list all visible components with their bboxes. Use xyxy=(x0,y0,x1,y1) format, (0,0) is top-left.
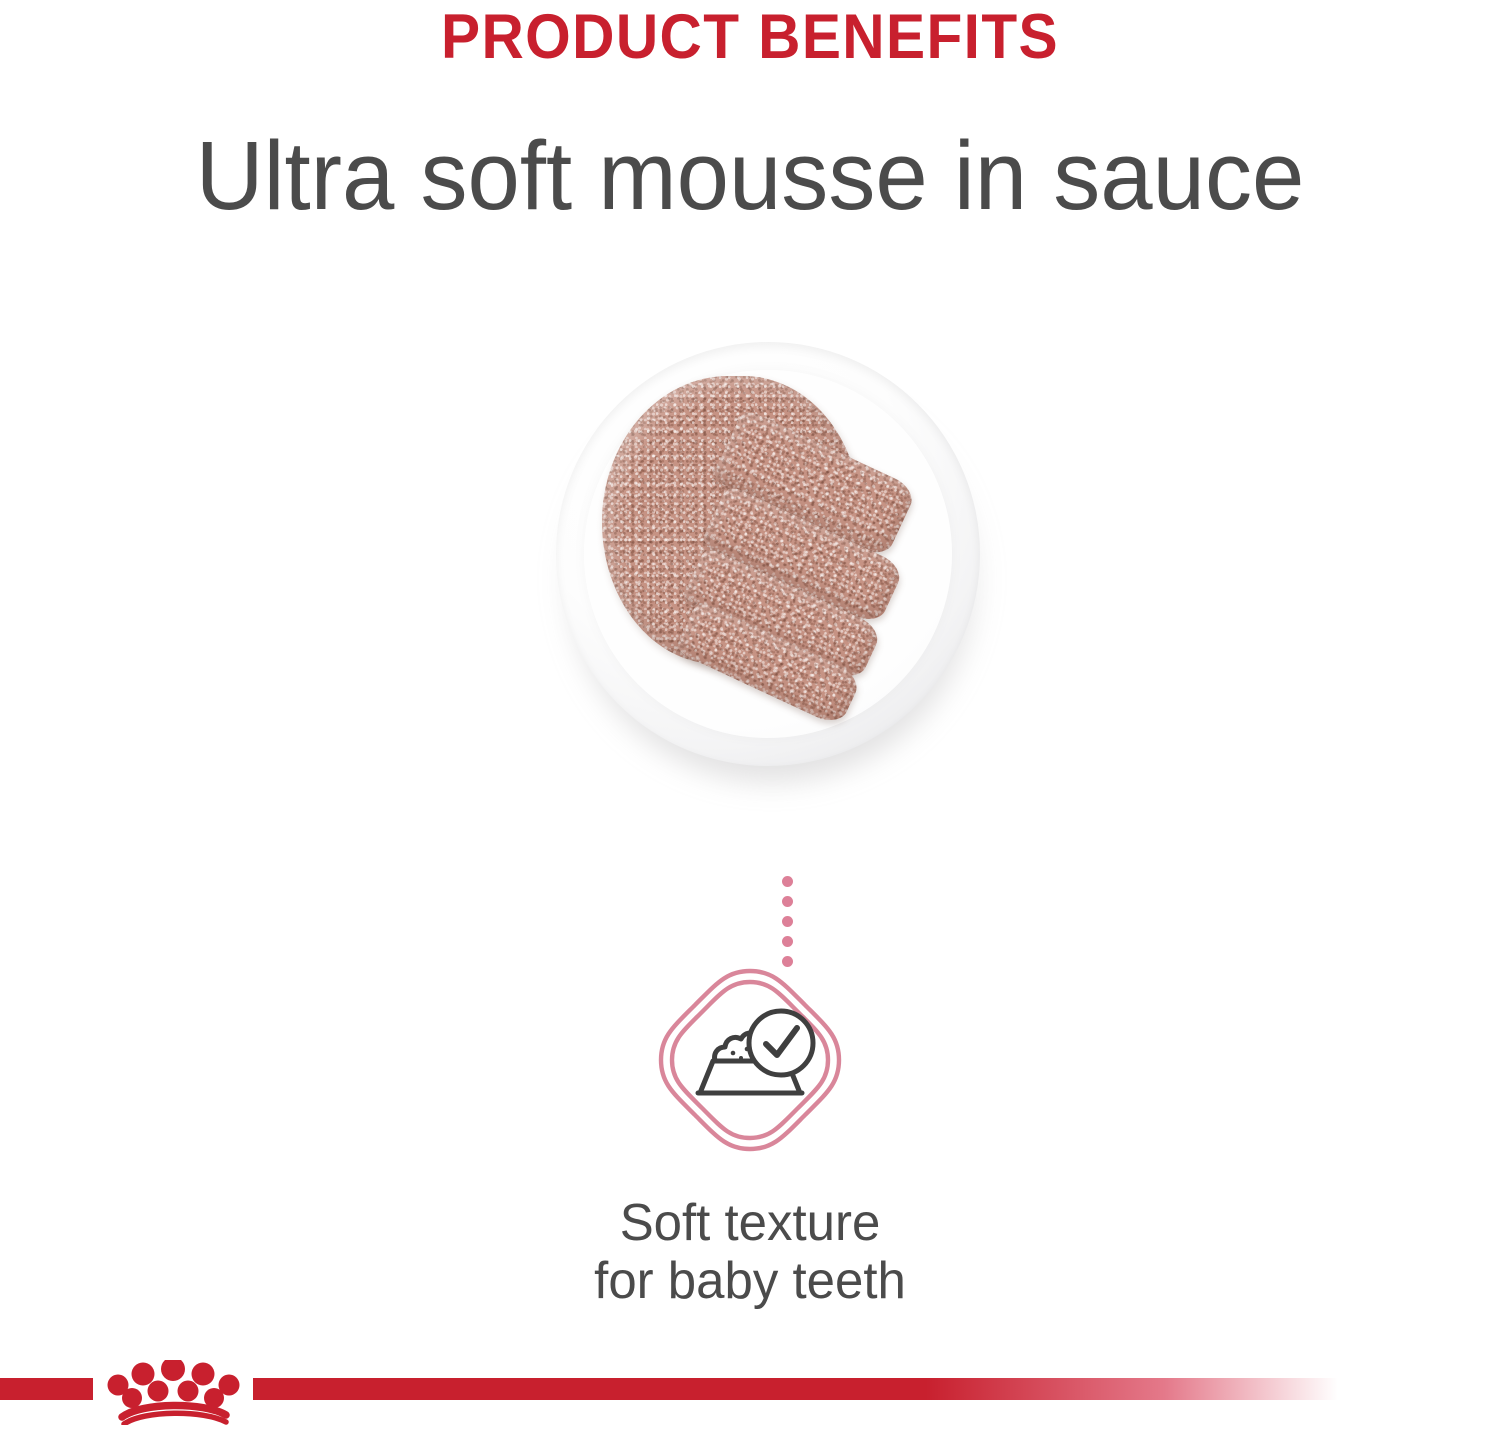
product-photo xyxy=(540,330,1000,830)
food-bowl-check-icon xyxy=(655,965,845,1155)
mousse-portion xyxy=(602,376,932,726)
benefit-caption-line2: for baby teeth xyxy=(594,1252,906,1310)
dotted-line-icon xyxy=(779,876,795,968)
connector-dot xyxy=(782,876,793,887)
footer xyxy=(0,1360,1500,1425)
benefit-caption-line1: Soft texture xyxy=(620,1194,881,1252)
benefit-block: Soft texture for baby teeth xyxy=(0,965,1500,1310)
footer-rule-left xyxy=(0,1378,93,1400)
royal-canin-crown-logo xyxy=(98,1360,258,1425)
page-title: Ultra soft mousse in sauce xyxy=(23,69,1478,226)
footer-rule-right xyxy=(253,1378,1338,1400)
benefit-caption: Soft texture for baby teeth xyxy=(15,1160,1485,1310)
eyebrow-heading: PRODUCT BENEFITS xyxy=(53,0,1448,69)
connector-dot xyxy=(782,896,793,907)
page-title-block: PRODUCT BENEFITS Ultra soft mousse in sa… xyxy=(0,0,1500,226)
connector-dot xyxy=(782,916,793,927)
connector-dot xyxy=(782,936,793,947)
